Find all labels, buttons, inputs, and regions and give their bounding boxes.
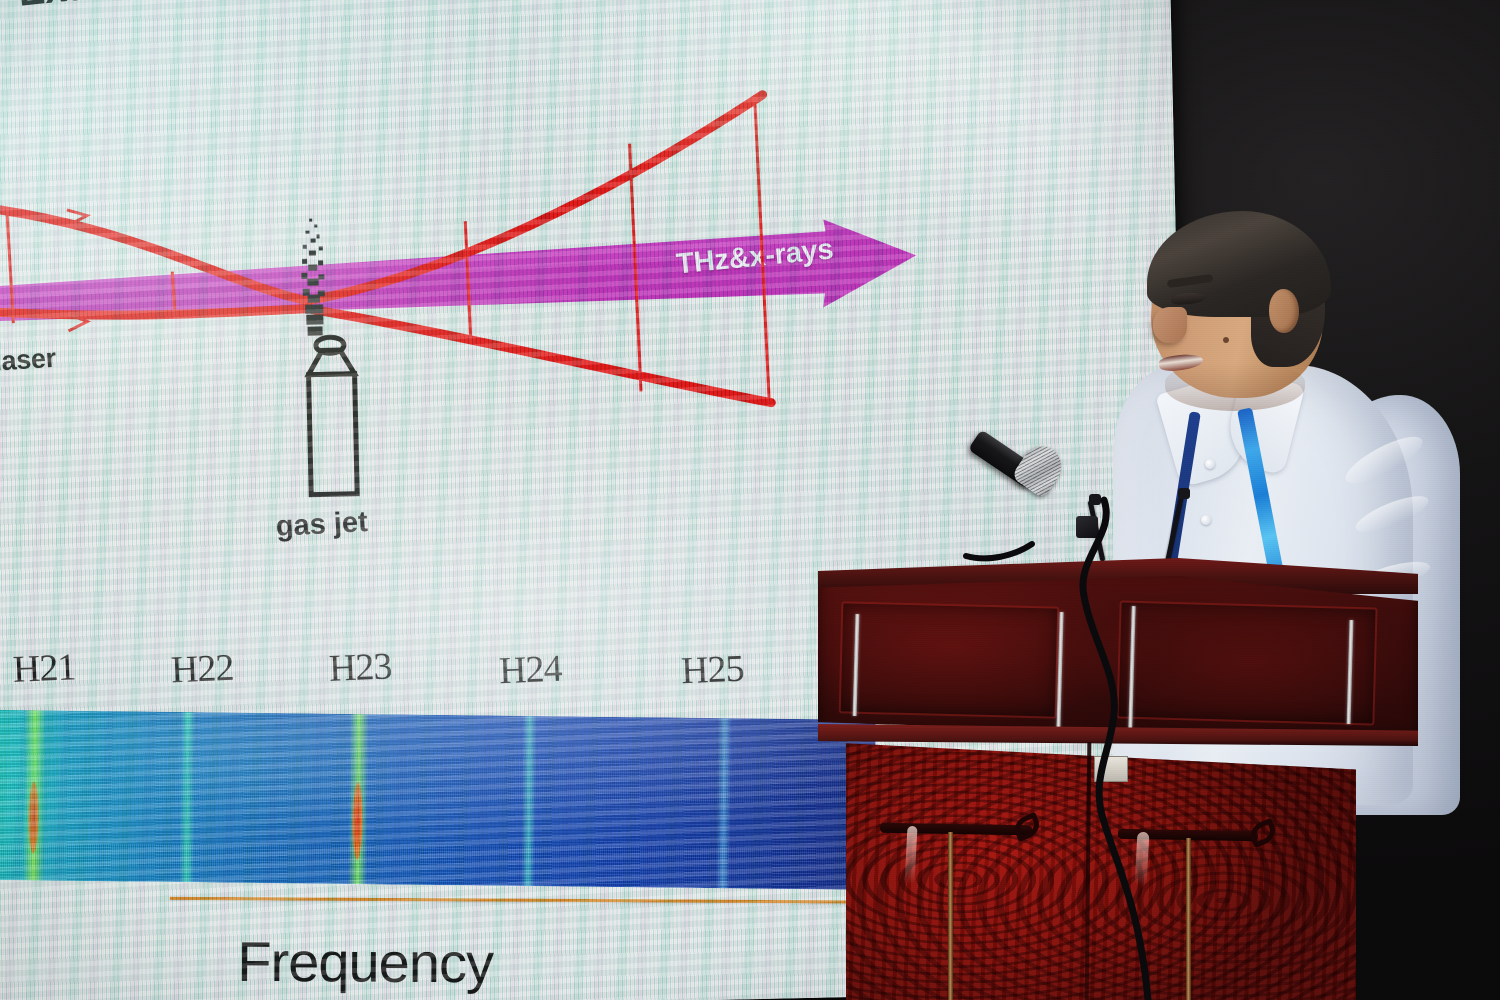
lectern-panel-left [839,601,1060,718]
lectern-panel-right [1116,600,1377,725]
nose [1153,307,1187,343]
cheek-mole [1223,337,1229,343]
podium-ornament-rod [948,832,953,1000]
conference-photo-scene: Extreme nonlinear optics: from X-ray lif… [0,0,1500,1000]
microphone-grille [1011,439,1070,500]
podium [818,520,1418,1000]
jaw-shadow [1165,363,1305,411]
podium-label-card [1094,756,1128,782]
gooseneck-capsule-left [1089,494,1101,505]
gooseneck-capsule-right [1178,488,1190,499]
shirt-button [1205,459,1215,469]
ear [1269,289,1299,333]
podium-ornament-rod [1186,838,1191,1000]
